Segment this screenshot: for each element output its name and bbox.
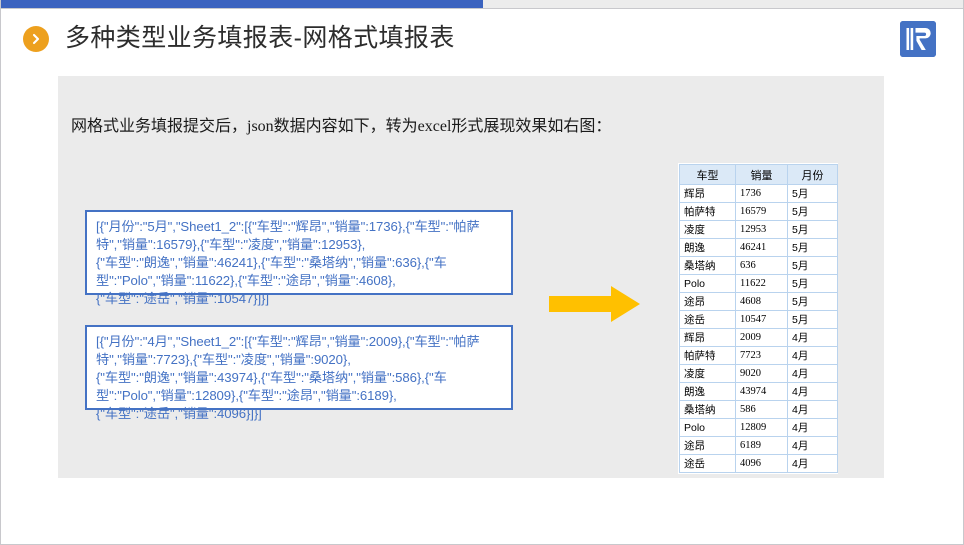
- cell-model: 凌度: [680, 221, 736, 239]
- cell-model: 桑塔纳: [680, 257, 736, 275]
- chevron-right-circle-icon: [23, 26, 49, 52]
- cell-sales: 4608: [736, 293, 788, 311]
- cell-model: 帕萨特: [680, 203, 736, 221]
- progress-bar-track: [1, 0, 964, 9]
- table-row: 桑塔纳6365月: [680, 257, 838, 275]
- cell-model: 凌度: [680, 365, 736, 383]
- table-row: Polo116225月: [680, 275, 838, 293]
- slide-canvas: 多种类型业务填报表-网格式填报表 网格式业务填报提交后，json数据内容如下，转…: [0, 0, 964, 545]
- cell-model: 朗逸: [680, 239, 736, 257]
- table-row: 途昂61894月: [680, 437, 838, 455]
- cell-month: 5月: [788, 203, 838, 221]
- cell-month: 4月: [788, 419, 838, 437]
- cell-month: 4月: [788, 401, 838, 419]
- page-header: 多种类型业务填报表-网格式填报表: [23, 18, 455, 60]
- cell-sales: 586: [736, 401, 788, 419]
- cell-model: 帕萨特: [680, 347, 736, 365]
- page-title: 多种类型业务填报表-网格式填报表: [65, 25, 455, 53]
- table-row: 凌度129535月: [680, 221, 838, 239]
- cell-sales: 16579: [736, 203, 788, 221]
- table-row: 途岳105475月: [680, 311, 838, 329]
- cell-sales: 43974: [736, 383, 788, 401]
- cell-sales: 11622: [736, 275, 788, 293]
- table-row: 辉昂17365月: [680, 185, 838, 203]
- table-row: 桑塔纳5864月: [680, 401, 838, 419]
- table-body: 辉昂17365月 帕萨特165795月 凌度129535月 朗逸462415月 …: [680, 185, 838, 473]
- table-header-row: 车型 销量 月份: [680, 165, 838, 185]
- cell-month: 4月: [788, 437, 838, 455]
- table-row: 朗逸462415月: [680, 239, 838, 257]
- table-row: 途岳40964月: [680, 455, 838, 473]
- cell-month: 5月: [788, 185, 838, 203]
- cell-month: 5月: [788, 311, 838, 329]
- cell-month: 5月: [788, 275, 838, 293]
- cell-sales: 12953: [736, 221, 788, 239]
- cell-sales: 10547: [736, 311, 788, 329]
- json-code-block-april: [{"月份":"4月","Sheet1_2":[{"车型":"辉昂","销量":…: [85, 325, 513, 410]
- cell-month: 4月: [788, 383, 838, 401]
- brand-r-logo-icon: [900, 21, 936, 57]
- cell-month: 4月: [788, 365, 838, 383]
- cell-model: 途岳: [680, 311, 736, 329]
- cell-sales: 636: [736, 257, 788, 275]
- table-row: 帕萨特165795月: [680, 203, 838, 221]
- cell-sales: 9020: [736, 365, 788, 383]
- table-row: 朗逸439744月: [680, 383, 838, 401]
- cell-sales: 6189: [736, 437, 788, 455]
- right-arrow-icon: [549, 285, 641, 323]
- excel-preview-table: 车型 销量 月份 辉昂17365月 帕萨特165795月 凌度129535月 朗…: [678, 163, 838, 474]
- cell-model: 辉昂: [680, 329, 736, 347]
- cell-model: 途昂: [680, 293, 736, 311]
- cell-model: 朗逸: [680, 383, 736, 401]
- cell-sales: 7723: [736, 347, 788, 365]
- cell-sales: 46241: [736, 239, 788, 257]
- cell-month: 4月: [788, 455, 838, 473]
- cell-month: 5月: [788, 293, 838, 311]
- table-row: 途昂46085月: [680, 293, 838, 311]
- cell-month: 5月: [788, 239, 838, 257]
- cell-model: 桑塔纳: [680, 401, 736, 419]
- table-row: 凌度90204月: [680, 365, 838, 383]
- cell-sales: 1736: [736, 185, 788, 203]
- caption-text: 网格式业务填报提交后，json数据内容如下，转为excel形式展现效果如右图：: [71, 112, 611, 136]
- table-row: Polo128094月: [680, 419, 838, 437]
- progress-bar-fill: [1, 0, 483, 8]
- table-row: 辉昂20094月: [680, 329, 838, 347]
- cell-model: Polo: [680, 419, 736, 437]
- cell-month: 5月: [788, 257, 838, 275]
- cell-month: 5月: [788, 221, 838, 239]
- cell-sales: 4096: [736, 455, 788, 473]
- cell-sales: 2009: [736, 329, 788, 347]
- table-row: 帕萨特77234月: [680, 347, 838, 365]
- cell-model: 辉昂: [680, 185, 736, 203]
- cell-month: 4月: [788, 347, 838, 365]
- cell-month: 4月: [788, 329, 838, 347]
- column-header-sales: 销量: [736, 165, 788, 185]
- cell-model: 途昂: [680, 437, 736, 455]
- json-code-block-may: [{"月份":"5月","Sheet1_2":[{"车型":"辉昂","销量":…: [85, 210, 513, 295]
- cell-sales: 12809: [736, 419, 788, 437]
- column-header-month: 月份: [788, 165, 838, 185]
- column-header-model: 车型: [680, 165, 736, 185]
- cell-model: 途岳: [680, 455, 736, 473]
- cell-model: Polo: [680, 275, 736, 293]
